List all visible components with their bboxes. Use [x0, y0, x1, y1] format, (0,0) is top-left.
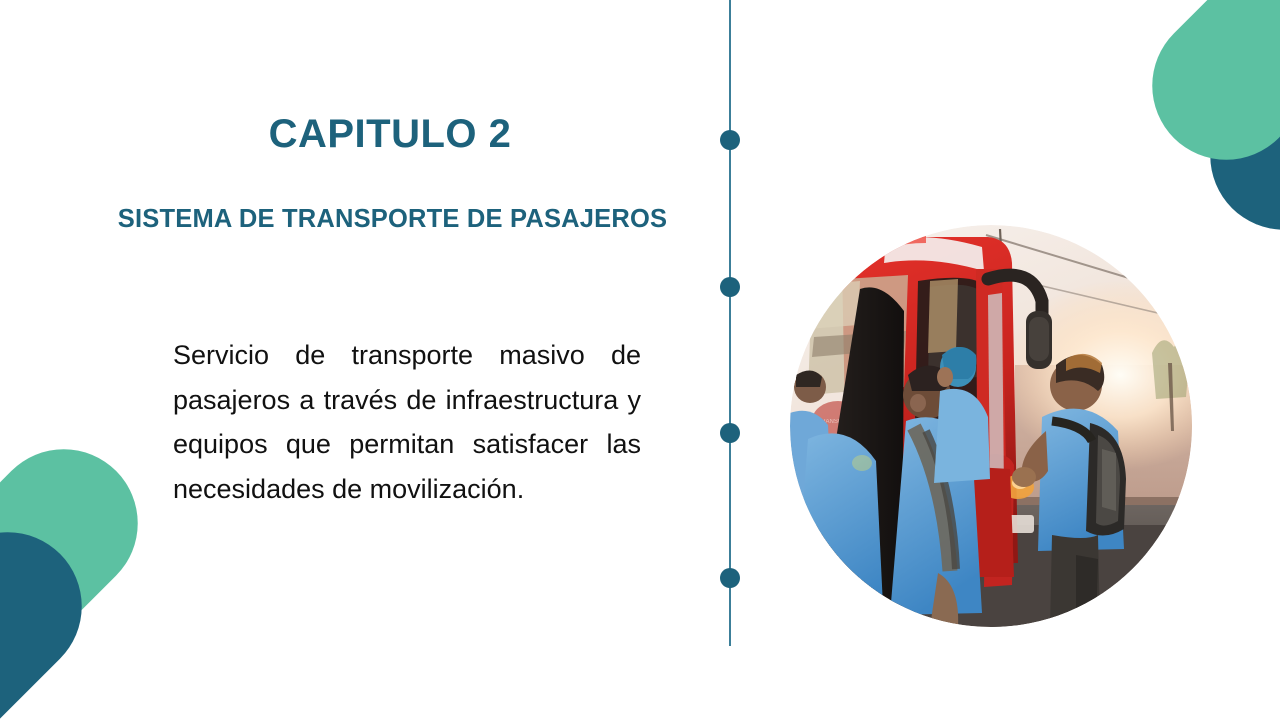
timeline-dot-3: [720, 423, 740, 443]
page-title: CAPITULO 2: [60, 112, 720, 156]
slide: CAPITULO 2 SISTEMA DE TRANSPORTE DE PASA…: [0, 0, 1280, 720]
timeline-dot-1: [720, 130, 740, 150]
timeline-dot-2: [720, 277, 740, 297]
photo-circle: TRANSPORTE: [790, 225, 1192, 627]
bus-boarding-photo: TRANSPORTE: [790, 225, 1192, 627]
page-subtitle: SISTEMA DE TRANSPORTE DE PASAJEROS: [70, 205, 715, 234]
timeline-dot-4: [720, 568, 740, 588]
body-paragraph: Servicio de transporte masivo de pasajer…: [173, 333, 641, 511]
vertical-divider-line: [729, 0, 731, 646]
